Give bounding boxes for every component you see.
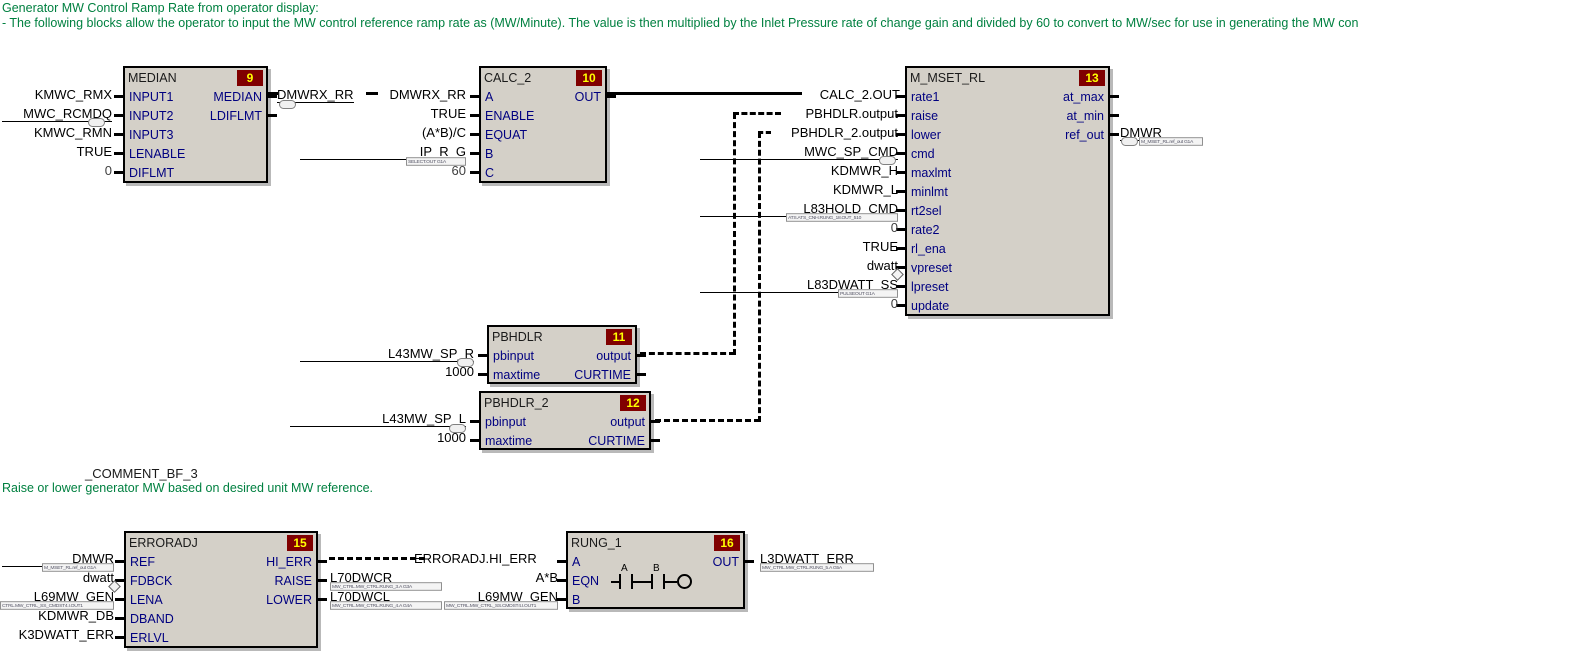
- wire-pbhdlr-out-v: [733, 113, 736, 355]
- wire-median-out: [268, 92, 278, 95]
- pin-row[interactable]: rl_ena: [907, 239, 1108, 258]
- pin-input-label: ERLVL: [130, 631, 169, 645]
- pin-row[interactable]: REF HI_ERR: [126, 552, 316, 571]
- block-header: RUNG_1 16: [568, 533, 743, 552]
- pin-stub-icon: [470, 420, 479, 423]
- pin-stub-icon: [637, 373, 646, 376]
- block-title: PBHDLR_2: [484, 396, 549, 410]
- pin-stub-icon: [557, 579, 566, 582]
- pin-input-label: EQN: [572, 574, 599, 588]
- pin-row[interactable]: FDBCK RAISE: [126, 571, 316, 590]
- output-coil-icon: [677, 574, 692, 589]
- signal-label-true-enable[interactable]: TRUE: [300, 107, 466, 121]
- pin-row[interactable]: ERLVL: [126, 628, 316, 647]
- pin-row[interactable]: INPUT3: [125, 125, 266, 144]
- pin-row[interactable]: maxlmt: [907, 163, 1108, 182]
- signal-source-annotation: MW_CTRL.MW_CTRL.RUNG_4.A G4A: [330, 601, 442, 610]
- pin-row[interactable]: LENABLE: [125, 144, 266, 163]
- block-median[interactable]: MEDIAN 9 INPUT1 MEDIAN INPUT2 LDIFLMT IN…: [123, 66, 268, 183]
- pin-input-label: LENA: [130, 593, 163, 607]
- pin-input-label: pbinput: [485, 415, 526, 429]
- wire-erroradj-hi-err: [329, 557, 425, 560]
- block-m-mset-rl[interactable]: M_MSET_RL 13 rate1 at_max raise at_min l…: [905, 66, 1110, 316]
- pin-stub-icon: [268, 95, 277, 98]
- block-title: PBHDLR: [492, 330, 543, 344]
- pin-row[interactable]: INPUT1 MEDIAN: [125, 87, 266, 106]
- pin-output-label: CURTIME: [588, 434, 645, 448]
- signal-label-kdmwr-db[interactable]: KDMWR_DB: [2, 609, 114, 623]
- pin-row[interactable]: minlmt: [907, 182, 1108, 201]
- signal-label-mwc-sp-cmd[interactable]: MWC_SP_CMD: [700, 145, 898, 160]
- block-body: pbinput output maxtime CURTIME: [489, 346, 635, 384]
- pin-row[interactable]: lower ref_out: [907, 125, 1108, 144]
- pin-stub-icon: [268, 114, 277, 117]
- pin-input-label: ENABLE: [485, 109, 534, 123]
- block-title: RUNG_1: [571, 536, 622, 550]
- pin-input-label: DIFLMT: [129, 166, 174, 180]
- pin-row[interactable]: A OUT: [481, 87, 605, 106]
- pin-stub-icon: [115, 598, 124, 601]
- pin-row[interactable]: maxtime CURTIME: [481, 431, 649, 450]
- pin-stub-icon: [1110, 133, 1119, 136]
- pin-stub-icon: [470, 95, 479, 98]
- block-body: REF HI_ERR FDBCK RAISE LENA LOWER DBAND: [126, 552, 316, 647]
- block-body: INPUT1 MEDIAN INPUT2 LDIFLMT INPUT3 LENA…: [125, 87, 266, 182]
- signal-label-maxtime2-1000[interactable]: 1000: [290, 431, 466, 445]
- pin-input-label: INPUT1: [129, 90, 173, 104]
- block-number-badge: 11: [606, 329, 632, 345]
- pin-row[interactable]: cmd: [907, 144, 1108, 163]
- pin-row[interactable]: C: [481, 163, 605, 182]
- pin-input-label: B: [485, 147, 493, 161]
- pin-input-label: lower: [911, 128, 941, 142]
- pin-output-label: at_max: [1063, 90, 1104, 104]
- pin-stub-icon: [114, 171, 123, 174]
- pin-row[interactable]: ENABLE: [481, 106, 605, 125]
- pin-output-label: HI_ERR: [266, 555, 312, 569]
- pin-input-label: A: [485, 90, 493, 104]
- signal-ref-oval-icon: [279, 100, 296, 109]
- pin-input-label: maxtime: [493, 368, 540, 382]
- ladder-rung-graphic: A B: [611, 564, 731, 596]
- pin-input-label: rt2sel: [911, 204, 942, 218]
- block-number-badge: 15: [287, 535, 313, 551]
- pin-row[interactable]: rate1 at_max: [907, 87, 1108, 106]
- pin-row[interactable]: EQUAT: [481, 125, 605, 144]
- pin-stub-icon: [557, 560, 566, 563]
- signal-label-l43mw-sp-r[interactable]: L43MW_SP_R: [300, 347, 474, 362]
- pin-stub-icon: [557, 598, 566, 601]
- pin-stub-icon: [115, 636, 124, 639]
- pin-output-label: LOWER: [266, 593, 312, 607]
- pin-input-label: REF: [130, 555, 155, 569]
- signal-label-equation[interactable]: (A*B)/C: [300, 126, 466, 140]
- block-rung1[interactable]: RUNG_1 16 A OUT EQN B A: [566, 531, 745, 609]
- header-comment-title: Generator MW Control Ramp Rate from oper…: [2, 1, 319, 16]
- signal-label-kdmwr-h[interactable]: KDMWR_H: [700, 164, 898, 178]
- pin-stub-icon: [114, 133, 123, 136]
- pin-input-label: cmd: [911, 147, 935, 161]
- pin-input-label: INPUT3: [129, 128, 173, 142]
- wire-pbhdlr-out-h: [640, 352, 735, 355]
- pin-stub-icon: [470, 439, 479, 442]
- block-number-badge: 16: [714, 535, 740, 551]
- signal-label-l43mw-sp-l[interactable]: L43MW_SP_L: [290, 412, 466, 427]
- pin-stub-icon: [637, 354, 646, 357]
- signal-label-kmwc-rmn[interactable]: KMWC_RMN: [2, 126, 112, 140]
- signal-source-annotation: M_MSET_RL.ref_out G1A: [1139, 137, 1203, 146]
- pin-input-label: pbinput: [493, 349, 534, 363]
- block-header: M_MSET_RL 13: [907, 68, 1108, 87]
- block-title: M_MSET_RL: [910, 71, 985, 85]
- signal-label-dwatt[interactable]: dwatt: [700, 259, 898, 273]
- signal-label-kmwc-rmx[interactable]: KMWC_RMX: [2, 88, 112, 102]
- signal-source-annotation: MW_CTRL.MW_CTRL_SS.CMDST4.I.OUT1: [444, 601, 558, 610]
- pin-row[interactable]: rate2: [907, 220, 1108, 239]
- pin-output-label: at_min: [1066, 109, 1104, 123]
- block-number-badge: 9: [237, 70, 263, 86]
- signal-label-true[interactable]: TRUE: [2, 145, 112, 159]
- block-calc2[interactable]: CALC_2 10 A OUT ENABLE EQUAT B: [479, 66, 607, 183]
- pin-stub-icon: [1110, 114, 1119, 117]
- pin-stub-icon: [114, 114, 123, 117]
- pin-input-label: A: [572, 555, 580, 569]
- pin-output-label: output: [610, 415, 645, 429]
- contact-a-left-icon: [619, 574, 621, 589]
- pin-output-label: RAISE: [274, 574, 312, 588]
- contact-b-label: B: [653, 563, 660, 574]
- block-body: rate1 at_max raise at_min lower ref_out …: [907, 87, 1108, 315]
- pin-row[interactable]: vpreset: [907, 258, 1108, 277]
- pin-stub-icon: [478, 373, 487, 376]
- pin-output-label: ref_out: [1065, 128, 1104, 142]
- signal-label-erroradj-hi-err: ERRORADJ.HI_ERR: [414, 552, 537, 566]
- wire-pbhdlr2-to-lower: [758, 131, 771, 134]
- block-title: ERRORADJ: [129, 536, 198, 550]
- pin-stub-icon: [114, 95, 123, 98]
- wire-pbhdlr2-out-v: [758, 132, 761, 422]
- pin-input-label: EQUAT: [485, 128, 527, 142]
- signal-label-update-zero[interactable]: 0: [700, 297, 898, 311]
- block-number-badge: 10: [576, 70, 602, 86]
- pin-output-label: CURTIME: [574, 368, 631, 382]
- pin-stub-icon: [318, 579, 327, 582]
- pin-stub-icon: [607, 95, 616, 98]
- pin-stub-icon: [470, 152, 479, 155]
- block-body: pbinput output maxtime CURTIME: [481, 412, 649, 450]
- block-header: CALC_2 10: [481, 68, 605, 87]
- wire-pbhdlr-to-raise: [733, 112, 781, 115]
- pin-stub-icon: [318, 560, 327, 563]
- block-header: PBHDLR_2 12: [481, 393, 649, 412]
- pin-input-label: DBAND: [130, 612, 174, 626]
- pin-output-label: MEDIAN: [213, 90, 262, 104]
- pin-stub-icon: [651, 439, 660, 442]
- header-comment-body: - The following blocks allow the operato…: [2, 16, 1358, 31]
- signal-source-annotation: MW_CTRL.MW_CTRL.RUNG_5.A G5A: [760, 563, 874, 572]
- signal-label-zero[interactable]: 0: [2, 164, 112, 178]
- signal-label-dwatt-fdbck[interactable]: dwatt: [2, 571, 114, 585]
- block-header: MEDIAN 9: [125, 68, 266, 87]
- block-pbhdlr-2[interactable]: PBHDLR_2 12 pbinput output maxtime CURTI…: [479, 391, 651, 450]
- pin-stub-icon: [470, 114, 479, 117]
- pin-stub-icon: [745, 560, 754, 563]
- pin-input-label: raise: [911, 109, 938, 123]
- pin-stub-icon: [115, 617, 124, 620]
- pin-output-label: LDIFLMT: [210, 109, 262, 123]
- pin-row[interactable]: DBAND: [126, 609, 316, 628]
- wire-pbhdlr2-out-h: [655, 419, 760, 422]
- pin-row[interactable]: update: [907, 296, 1108, 315]
- block-number-badge: 12: [620, 395, 646, 411]
- signal-label-sixty[interactable]: 60: [300, 164, 466, 178]
- signal-label-kdmwr-l[interactable]: KDMWR_L: [700, 183, 898, 197]
- pin-stub-icon: [896, 95, 905, 98]
- pin-input-label: rl_ena: [911, 242, 946, 256]
- pin-row[interactable]: lpreset: [907, 277, 1108, 296]
- signal-label-calc2-out: CALC_2.OUT: [740, 88, 900, 102]
- pin-row[interactable]: rt2sel: [907, 201, 1108, 220]
- pin-input-label: update: [911, 299, 949, 313]
- block-body: A OUT ENABLE EQUAT B C: [481, 87, 605, 182]
- signal-label-maxtime-1000[interactable]: 1000: [300, 365, 474, 379]
- pin-row[interactable]: B: [481, 144, 605, 163]
- section2-comment-label: _COMMENT_BF_3: [85, 466, 198, 481]
- pin-input-label: B: [572, 593, 580, 607]
- block-title: CALC_2: [484, 71, 531, 85]
- contact-b-left-icon: [651, 574, 653, 589]
- ladder-wire: [611, 581, 619, 583]
- signal-ref-oval-icon: [1121, 137, 1138, 146]
- block-erroradj[interactable]: ERRORADJ 15 REF HI_ERR FDBCK RAISE LENA …: [124, 531, 318, 648]
- pin-input-label: INPUT2: [129, 109, 173, 123]
- ladder-wire: [663, 581, 677, 583]
- pin-row[interactable]: pbinput output: [489, 346, 635, 365]
- pin-stub-icon: [651, 420, 660, 423]
- contact-a-label: A: [621, 563, 628, 574]
- pin-output-label: OUT: [575, 90, 601, 104]
- block-pbhdlr[interactable]: PBHDLR 11 pbinput output maxtime CURTIME: [487, 325, 637, 384]
- pin-output-label: output: [596, 349, 631, 363]
- pin-row[interactable]: LENA LOWER: [126, 590, 316, 609]
- pin-stub-icon: [470, 133, 479, 136]
- pin-input-label: C: [485, 166, 494, 180]
- signal-label-pbhdlr-output[interactable]: PBHDLR.output: [700, 107, 898, 121]
- pin-input-label: LENABLE: [129, 147, 185, 161]
- signal-label-rate2-zero[interactable]: 0: [700, 221, 898, 235]
- pin-stub-icon: [470, 171, 479, 174]
- pin-stub-icon: [478, 354, 487, 357]
- pin-row[interactable]: raise at_min: [907, 106, 1108, 125]
- fbd-canvas: Generator MW Control Ramp Rate from oper…: [0, 0, 1579, 655]
- pin-input-label: rate2: [911, 223, 940, 237]
- pin-input-label: lpreset: [911, 280, 949, 294]
- pin-stub-icon: [114, 152, 123, 155]
- pin-row[interactable]: DIFLMT: [125, 163, 266, 182]
- pin-input-label: rate1: [911, 90, 940, 104]
- signal-label-k3dwatt-err[interactable]: K3DWATT_ERR: [2, 628, 114, 642]
- pin-input-label: maxtime: [485, 434, 532, 448]
- pin-row[interactable]: pbinput output: [481, 412, 649, 431]
- pin-input-label: vpreset: [911, 261, 952, 275]
- pin-stub-icon: [115, 560, 124, 563]
- signal-label-dmwrx-rr-in[interactable]: DMWRX_RR: [300, 88, 466, 102]
- ladder-wire: [631, 581, 651, 583]
- pin-input-label: minlmt: [911, 185, 948, 199]
- block-number-badge: 13: [1079, 70, 1105, 86]
- pin-input-label: maxlmt: [911, 166, 951, 180]
- pin-stub-icon: [318, 598, 327, 601]
- block-header: PBHDLR 11: [489, 327, 635, 346]
- pin-stub-icon: [1110, 95, 1119, 98]
- signal-label-pbhdlr2-output[interactable]: PBHDLR_2.output: [700, 126, 898, 140]
- pin-row[interactable]: INPUT2 LDIFLMT: [125, 106, 266, 125]
- signal-label-rl-ena-true[interactable]: TRUE: [700, 240, 898, 254]
- pin-input-label: FDBCK: [130, 574, 172, 588]
- section2-comment-body: Raise or lower generator MW based on des…: [2, 481, 373, 496]
- signal-label-rung1-eqn: A*B: [440, 571, 558, 585]
- block-title: MEDIAN: [128, 71, 177, 85]
- block-header: ERRORADJ 15: [126, 533, 316, 552]
- pin-row[interactable]: maxtime CURTIME: [489, 365, 635, 384]
